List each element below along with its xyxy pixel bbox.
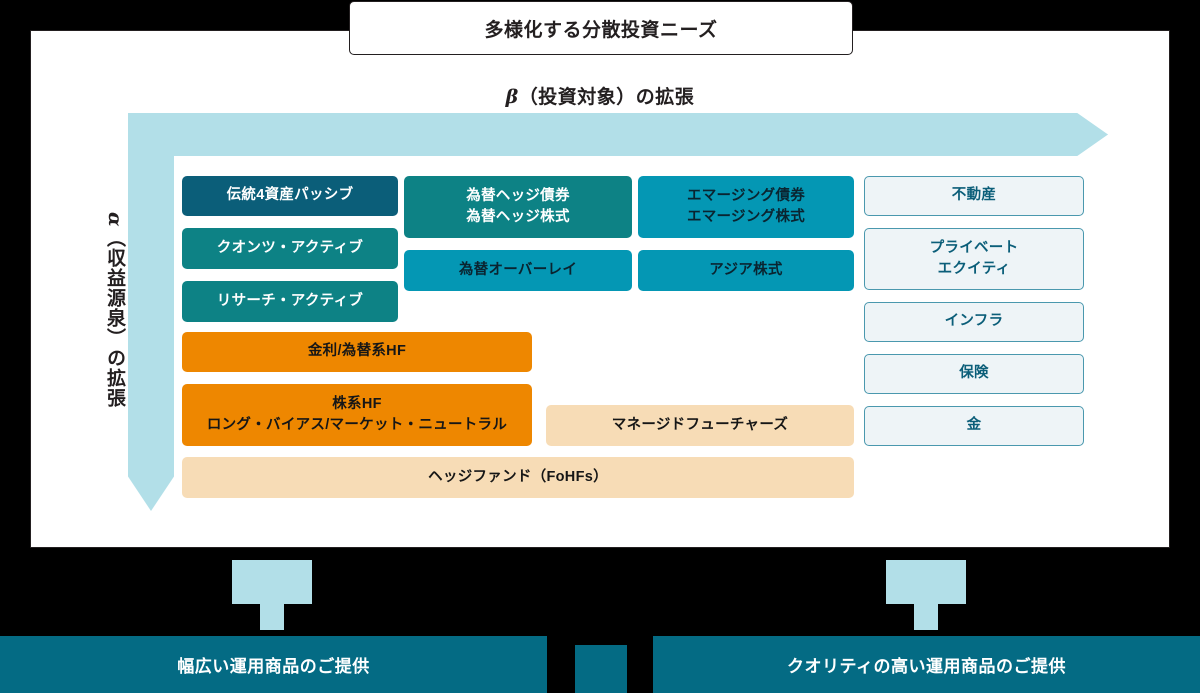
asset-box-research-active[interactable]: リサーチ・アクティブ: [182, 281, 398, 322]
alpha-symbol: α: [104, 212, 124, 228]
asset-box-macro-hf[interactable]: 金利/為替系HF: [182, 332, 532, 372]
vertical-axis-caption: α（収益源泉）の拡張: [84, 212, 124, 408]
footer-banner-left[interactable]: 幅広い運用商品のご提供: [0, 636, 547, 693]
asset-box-fohfs[interactable]: ヘッジファンド（FoHFs）: [182, 457, 854, 498]
asset-box-traditional-passive[interactable]: 伝統4資産パッシブ: [182, 176, 398, 216]
footer-banner-left-label: 幅広い運用商品のご提供: [177, 652, 370, 677]
asset-box-fx-hedged[interactable]: 為替ヘッジ債券 為替ヘッジ株式: [404, 176, 632, 238]
asset-box-fx-overlay[interactable]: 為替オーバーレイ: [404, 250, 632, 291]
asset-box-infrastructure[interactable]: インフラ: [864, 302, 1084, 342]
beta-caption-text: （投資対象）の拡張: [519, 87, 695, 108]
footer-banner-right-label: クオリティの高い運用商品のご提供: [787, 652, 1066, 677]
footer-banner-right[interactable]: クオリティの高い運用商品のご提供: [653, 636, 1200, 693]
asset-box-managed-futures[interactable]: マネージドフューチャーズ: [546, 405, 854, 446]
beta-expansion-arrow: [128, 113, 1108, 156]
asset-box-quants-active[interactable]: クオンツ・アクティブ: [182, 228, 398, 269]
asset-box-real-estate[interactable]: 不動産: [864, 176, 1084, 216]
asset-box-insurance[interactable]: 保険: [864, 354, 1084, 394]
diagram-canvas: 多様化する分散投資ニーズ β（投資対象）の拡張 α（収益源泉）の拡張 伝統4資産…: [0, 0, 1200, 693]
asset-box-equity-hf[interactable]: 株系HF ロング・バイアス/マーケット・ニュートラル: [182, 384, 532, 446]
left-connector-arrow: [232, 560, 312, 630]
alpha-caption-text: （収益源泉）の拡張: [104, 228, 124, 408]
asset-box-emerging[interactable]: エマージング債券 エマージング株式: [638, 176, 854, 238]
asset-box-gold[interactable]: 金: [864, 406, 1084, 446]
right-connector-arrow: [886, 560, 966, 630]
page-title-label: 多様化する分散投資ニーズ: [484, 15, 717, 42]
alpha-expansion-arrow: [128, 113, 174, 513]
page-title: 多様化する分散投資ニーズ: [349, 1, 853, 55]
asset-box-asia-equity[interactable]: アジア株式: [638, 250, 854, 291]
horizontal-axis-caption: β（投資対象）の拡張: [0, 82, 1200, 109]
footer-banner-center-block: [575, 645, 627, 693]
beta-symbol: β: [506, 86, 519, 108]
asset-box-private-equity[interactable]: プライベート エクイティ: [864, 228, 1084, 290]
